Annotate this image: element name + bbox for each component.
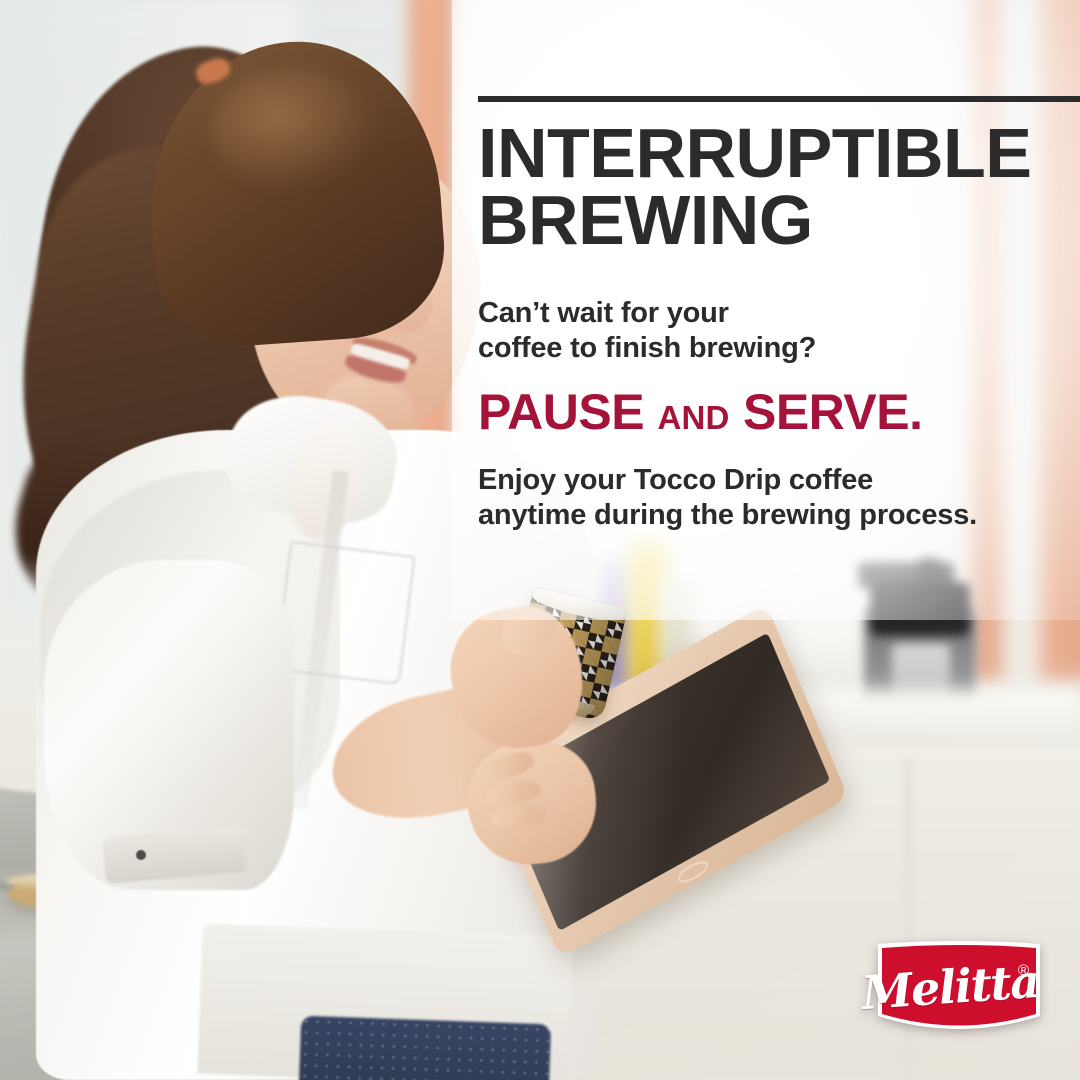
header-rule (478, 96, 1080, 102)
support-text: Enjoy your Tocco Drip coffee anytime dur… (478, 463, 1078, 533)
claim-line: PAUSE AND SERVE. (478, 387, 1078, 437)
page-title: INTERRUPTIBLE BREWING (478, 120, 1078, 254)
coffee-maker-top (870, 582, 970, 636)
hair-highlight (210, 70, 380, 190)
logo-wordmark: Melitta (886, 950, 1014, 1024)
chest-pocket (275, 541, 416, 685)
claim-second-word: SERVE. (743, 384, 923, 440)
copy-block: INTERRUPTIBLE BREWING Can’t wait for you… (478, 96, 1078, 532)
cuff-button (136, 850, 146, 860)
registered-trademark-icon: ® (1018, 962, 1029, 979)
denim-pattern (299, 1016, 551, 1080)
melitta-logo[interactable]: Melitta ® (874, 938, 1044, 1040)
advertisement-canvas: INTERRUPTIBLE BREWING Can’t wait for you… (0, 0, 1080, 1080)
claim-first-word: PAUSE (478, 384, 644, 440)
lead-question: Can’t wait for your coffee to finish bre… (478, 296, 1078, 364)
claim-conjunction: AND (657, 399, 729, 436)
